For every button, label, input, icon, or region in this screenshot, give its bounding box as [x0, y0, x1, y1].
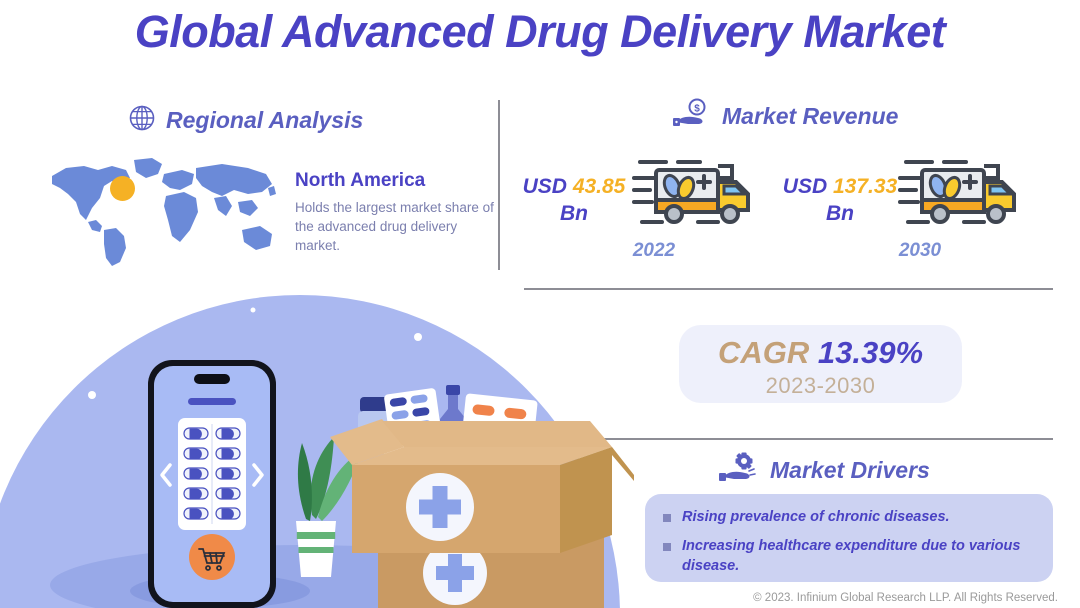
list-item: Rising prevalence of chronic diseases. [663, 508, 1035, 527]
vertical-divider [498, 100, 500, 270]
revenue-amount-2030: USD 137.33 Bn [778, 174, 902, 228]
revenue-amount-2022: USD 43.85 Bn [512, 174, 636, 228]
svg-text:$: $ [694, 104, 700, 115]
revenue-year-2030: 2030 [830, 240, 1010, 262]
revenue-entry-2030: USD 137.33 Bn 2030 [778, 160, 1033, 265]
driver-text: Rising prevalence of chronic diseases. [682, 508, 950, 527]
region-name: North America [295, 170, 495, 192]
cagr-value: 13.39% [818, 335, 923, 370]
market-revenue-heading: $ Market Revenue [672, 98, 898, 135]
revenue-unit: Bn [560, 202, 588, 225]
list-item: Increasing healthcare expenditure due to… [663, 537, 1035, 576]
cagr-card: CAGR 13.39% 2023-2030 [679, 325, 962, 403]
region-description: Holds the largest market share of the ad… [295, 198, 495, 255]
revenue-currency: USD [783, 175, 827, 198]
revenue-unit: Bn [826, 202, 854, 225]
hand-holding-dollar-icon: $ [672, 98, 712, 135]
revenue-year-2022: 2022 [564, 240, 744, 262]
cagr-label: CAGR [718, 335, 809, 370]
delivery-truck-icon [898, 144, 1028, 244]
world-map [42, 150, 292, 268]
revenue-currency: USD [523, 175, 567, 198]
revenue-value: 137.33 [833, 175, 897, 198]
page-title: Global Advanced Drug Delivery Market [0, 6, 1080, 58]
smartphone-device [148, 360, 276, 608]
square-bullet-icon [663, 543, 671, 551]
horizontal-divider-bottom [601, 438, 1053, 440]
copyright-footer: © 2023. Infinium Global Research LLP. Al… [0, 592, 1070, 604]
revenue-entry-2022: USD 43.85 Bn 2022 [512, 160, 762, 265]
driver-text: Increasing healthcare expenditure due to… [682, 537, 1035, 576]
market-revenue-label: Market Revenue [722, 103, 898, 130]
revenue-value: 43.85 [573, 175, 626, 198]
region-info-block: North America Holds the largest market s… [295, 170, 495, 255]
market-drivers-heading: Market Drivers [718, 452, 930, 489]
cart-button [189, 534, 235, 580]
regional-analysis-heading: Regional Analysis [128, 104, 363, 137]
globe-icon [128, 104, 156, 137]
market-drivers-list: Rising prevalence of chronic diseases. I… [645, 494, 1053, 582]
hand-holding-gear-icon [718, 452, 760, 489]
square-bullet-icon [663, 514, 671, 522]
cagr-period: 2023-2030 [679, 373, 962, 399]
cagr-main-line: CAGR 13.39% [679, 335, 962, 371]
drug-delivery-illustration [0, 285, 640, 608]
market-drivers-label: Market Drivers [770, 457, 930, 484]
delivery-truck-icon [632, 144, 762, 244]
north-america-map-pin [110, 176, 135, 201]
regional-analysis-label: Regional Analysis [166, 107, 363, 134]
